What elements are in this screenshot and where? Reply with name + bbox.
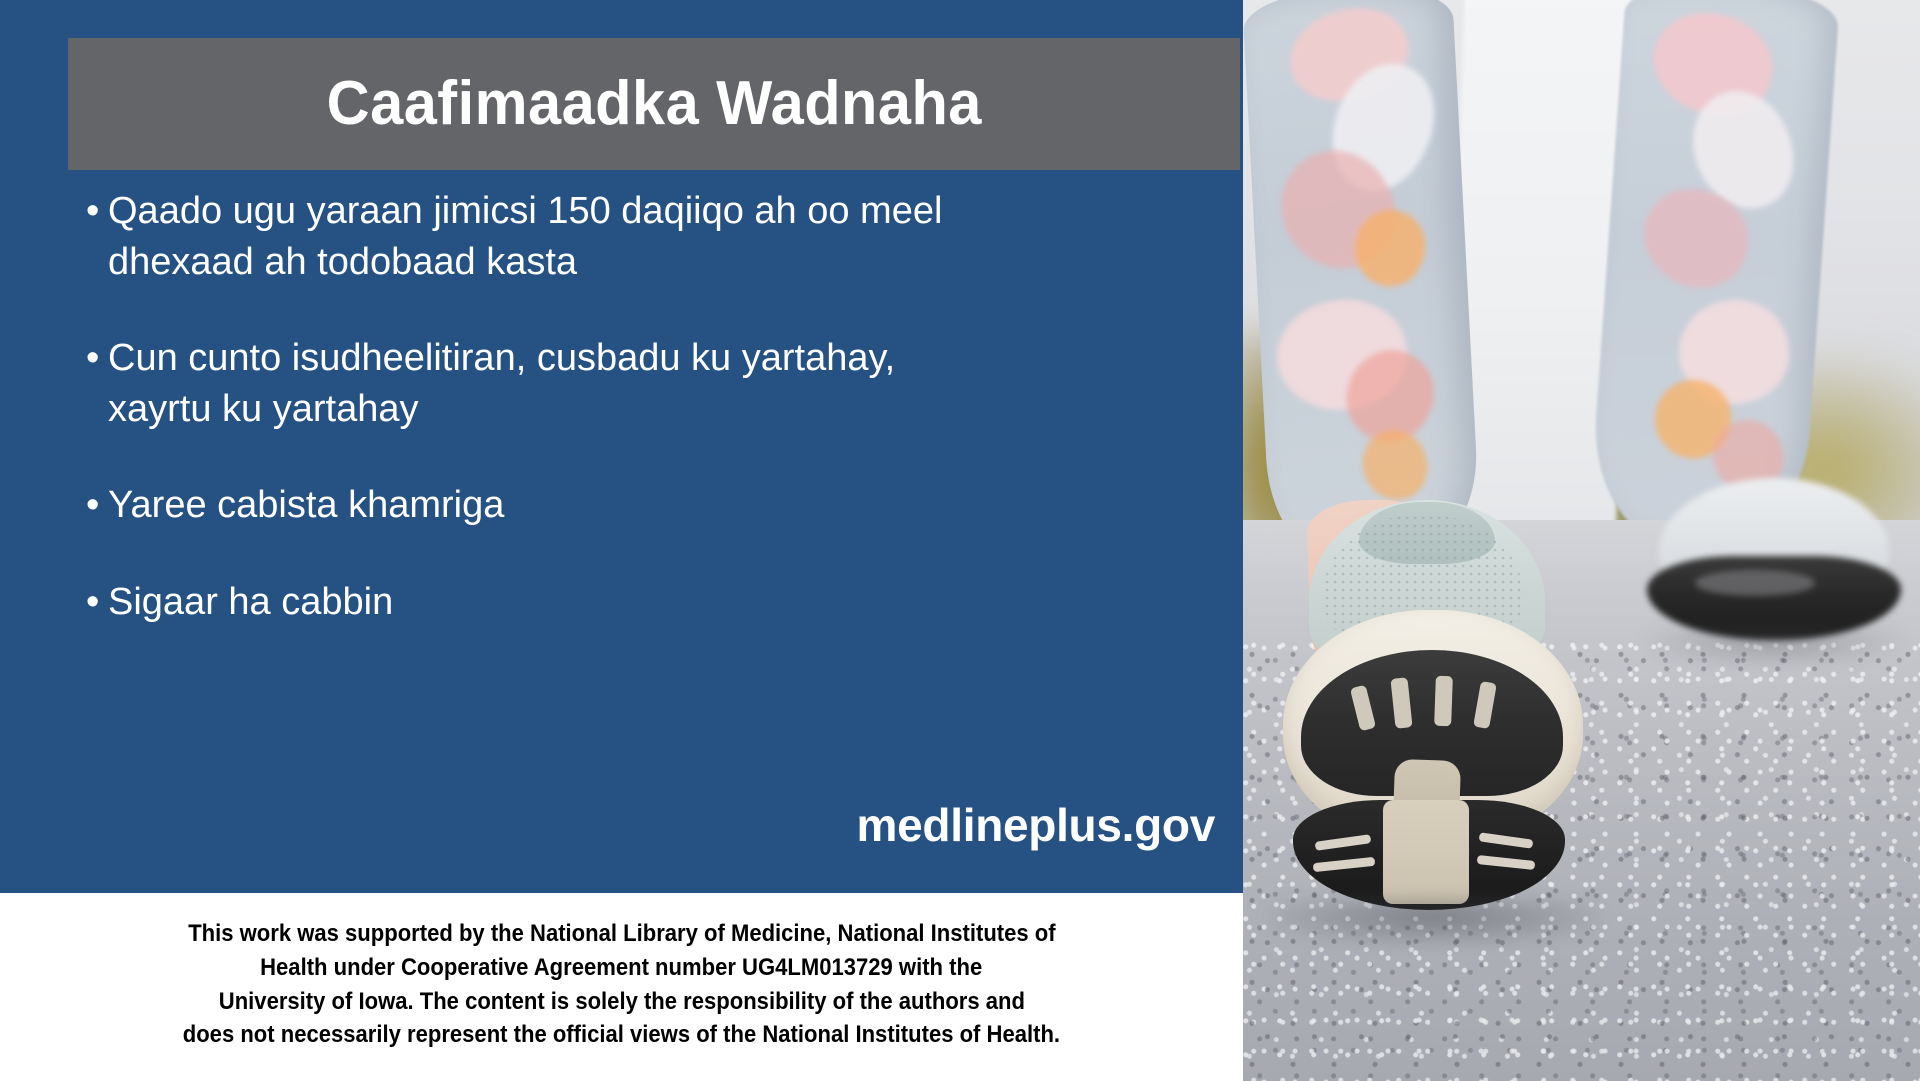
photo-outsole-lug bbox=[1434, 676, 1453, 727]
source-url-container: medlineplus.gov bbox=[0, 798, 1215, 852]
bullet-dot-icon: • bbox=[86, 480, 108, 531]
list-item: • Cun cunto isudheelitiran, cusbadu ku y… bbox=[86, 333, 1136, 434]
list-item: • Sigaar ha cabbin bbox=[86, 577, 1136, 628]
list-item-label: Qaado ugu yaraan jimicsi 150 daqiiqo ah … bbox=[108, 186, 988, 287]
disclaimer-line: Health under Cooperative Agreement numbe… bbox=[260, 951, 982, 985]
heart-health-infographic: Caafimaadka Wadnaha • Qaado ugu yaraan j… bbox=[0, 0, 1920, 1081]
page-title: Caafimaadka Wadnaha bbox=[326, 73, 981, 135]
photo-rear-shoe bbox=[1643, 478, 1903, 668]
walking-photo bbox=[1243, 0, 1920, 1081]
bullet-dot-icon: • bbox=[86, 577, 108, 628]
disclaimer-line: does not necessarily represent the offic… bbox=[183, 1018, 1060, 1052]
content-panel: Caafimaadka Wadnaha • Qaado ugu yaraan j… bbox=[0, 0, 1243, 893]
funding-disclaimer: This work was supported by the National … bbox=[0, 893, 1243, 1081]
list-item-label: Cun cunto isudheelitiran, cusbadu ku yar… bbox=[108, 333, 988, 434]
list-item-label: Sigaar ha cabbin bbox=[108, 577, 988, 628]
source-url-label[interactable]: medlineplus.gov bbox=[857, 799, 1215, 851]
list-item-label: Yaree cabista khamriga bbox=[108, 480, 988, 531]
photo-rear-shoe-shadow bbox=[1643, 626, 1905, 666]
disclaimer-line: This work was supported by the National … bbox=[188, 917, 1055, 951]
disclaimer-line: University of Iowa. The content is solel… bbox=[218, 985, 1024, 1019]
bullet-dot-icon: • bbox=[86, 186, 108, 237]
photo-rear-shoe-highlight bbox=[1695, 570, 1815, 596]
title-bar: Caafimaadka Wadnaha bbox=[68, 38, 1240, 170]
photo-front-shoe-shadow bbox=[1269, 898, 1599, 946]
photo-outsole-arch-cut bbox=[1383, 800, 1469, 904]
list-item: • Yaree cabista khamriga bbox=[86, 480, 1136, 531]
list-item: • Qaado ugu yaraan jimicsi 150 daqiiqo a… bbox=[86, 186, 1136, 287]
bullet-dot-icon: • bbox=[86, 333, 108, 384]
photo-front-shoe bbox=[1263, 500, 1603, 940]
tips-list: • Qaado ugu yaraan jimicsi 150 daqiiqo a… bbox=[86, 186, 1136, 627]
